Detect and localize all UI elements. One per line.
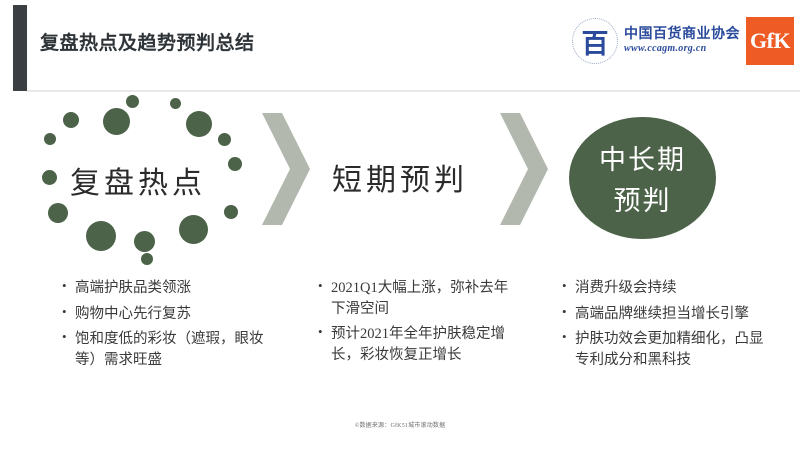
cluster-dot	[179, 215, 208, 244]
bullet-item: 消费升级会持续	[562, 278, 777, 299]
bullet-list-2: 2021Q1大幅上涨，弥补去年下滑空间预计2021年全年护肤稳定增长，彩妆恢复正…	[318, 278, 518, 365]
ccagm-glyph: 百	[572, 18, 618, 64]
cluster-dot	[86, 221, 116, 251]
phase-3-label-line2: 预判	[614, 179, 672, 218]
bullet-item: 饱和度低的彩妆（遮瑕，眼妆等）需求旺盛	[62, 329, 277, 370]
ccagm-logo-icon: 百	[572, 18, 618, 64]
ccagm-logo-text: 中国百货商业协会 www.ccagm.org.cn	[624, 27, 740, 55]
cluster-dot	[228, 157, 242, 171]
logo-group: 百 中国百货商业协会 www.ccagm.org.cn GfK	[572, 16, 794, 66]
bullet-column-3: 消费升级会持续高端品牌继续担当增长引擎护肤功效会更加精细化，凸显专利成分和黑科技	[562, 278, 777, 375]
cluster-dot	[42, 170, 57, 185]
phase-1-dot-cluster: 复盘热点	[42, 95, 267, 260]
source-note: ©数据来源：GfK51城市滚动数据	[0, 420, 800, 429]
bullet-item: 2021Q1大幅上涨，弥补去年下滑空间	[318, 278, 518, 319]
cluster-dot	[224, 205, 238, 219]
cluster-dot	[218, 133, 231, 146]
bullet-item: 护肤功效会更加精细化，凸显专利成分和黑科技	[562, 329, 777, 370]
slide-canvas: 复盘热点及趋势预判总结 百 中国百货商业协会 www.ccagm.org.cn …	[0, 0, 800, 450]
cluster-dot	[48, 203, 68, 223]
bullet-item: 高端品牌继续担当增长引擎	[562, 304, 777, 325]
page-title: 复盘热点及趋势预判总结	[40, 28, 255, 55]
cluster-dot	[170, 98, 181, 109]
chevron-right-icon-1	[262, 113, 310, 225]
cluster-dot	[63, 112, 79, 128]
bullet-list-3: 消费升级会持续高端品牌继续担当增长引擎护肤功效会更加精细化，凸显专利成分和黑科技	[562, 278, 777, 370]
header-divider	[27, 90, 800, 92]
cluster-dot	[126, 95, 139, 108]
bullet-column-2: 2021Q1大幅上涨，弥补去年下滑空间预计2021年全年护肤稳定增长，彩妆恢复正…	[318, 278, 518, 370]
ccagm-name: 中国百货商业协会	[624, 27, 740, 43]
ccagm-url: www.ccagm.org.cn	[624, 43, 740, 55]
bullet-list-1: 高端护肤品类领涨购物中心先行复苏饱和度低的彩妆（遮瑕，眼妆等）需求旺盛	[62, 278, 277, 370]
phase-3-circle: 中长期 预判	[569, 117, 716, 239]
bullet-item: 预计2021年全年护肤稳定增长，彩妆恢复正增长	[318, 324, 518, 365]
cluster-dot	[103, 108, 130, 135]
phase-2-label: 短期预判	[332, 155, 468, 199]
phase-3-label-line1: 中长期	[599, 138, 686, 177]
phase-1-label: 复盘热点	[70, 158, 206, 202]
cluster-dot	[186, 111, 212, 137]
gfk-logo: GfK	[746, 17, 794, 65]
cluster-dot	[134, 231, 155, 252]
title-accent-bar	[13, 5, 27, 91]
bullet-item: 购物中心先行复苏	[62, 304, 277, 325]
phase-stage: 复盘热点 短期预判 中长期 预判	[0, 95, 800, 260]
bullet-column-1: 高端护肤品类领涨购物中心先行复苏饱和度低的彩妆（遮瑕，眼妆等）需求旺盛	[62, 278, 277, 375]
bullet-item: 高端护肤品类领涨	[62, 278, 277, 299]
cluster-dot	[44, 133, 56, 145]
gfk-logo-label: GfK	[750, 28, 790, 54]
chevron-right-icon-2	[500, 113, 548, 225]
cluster-dot	[141, 253, 153, 265]
bullet-columns: 高端护肤品类领涨购物中心先行复苏饱和度低的彩妆（遮瑕，眼妆等）需求旺盛 2021…	[0, 278, 800, 403]
